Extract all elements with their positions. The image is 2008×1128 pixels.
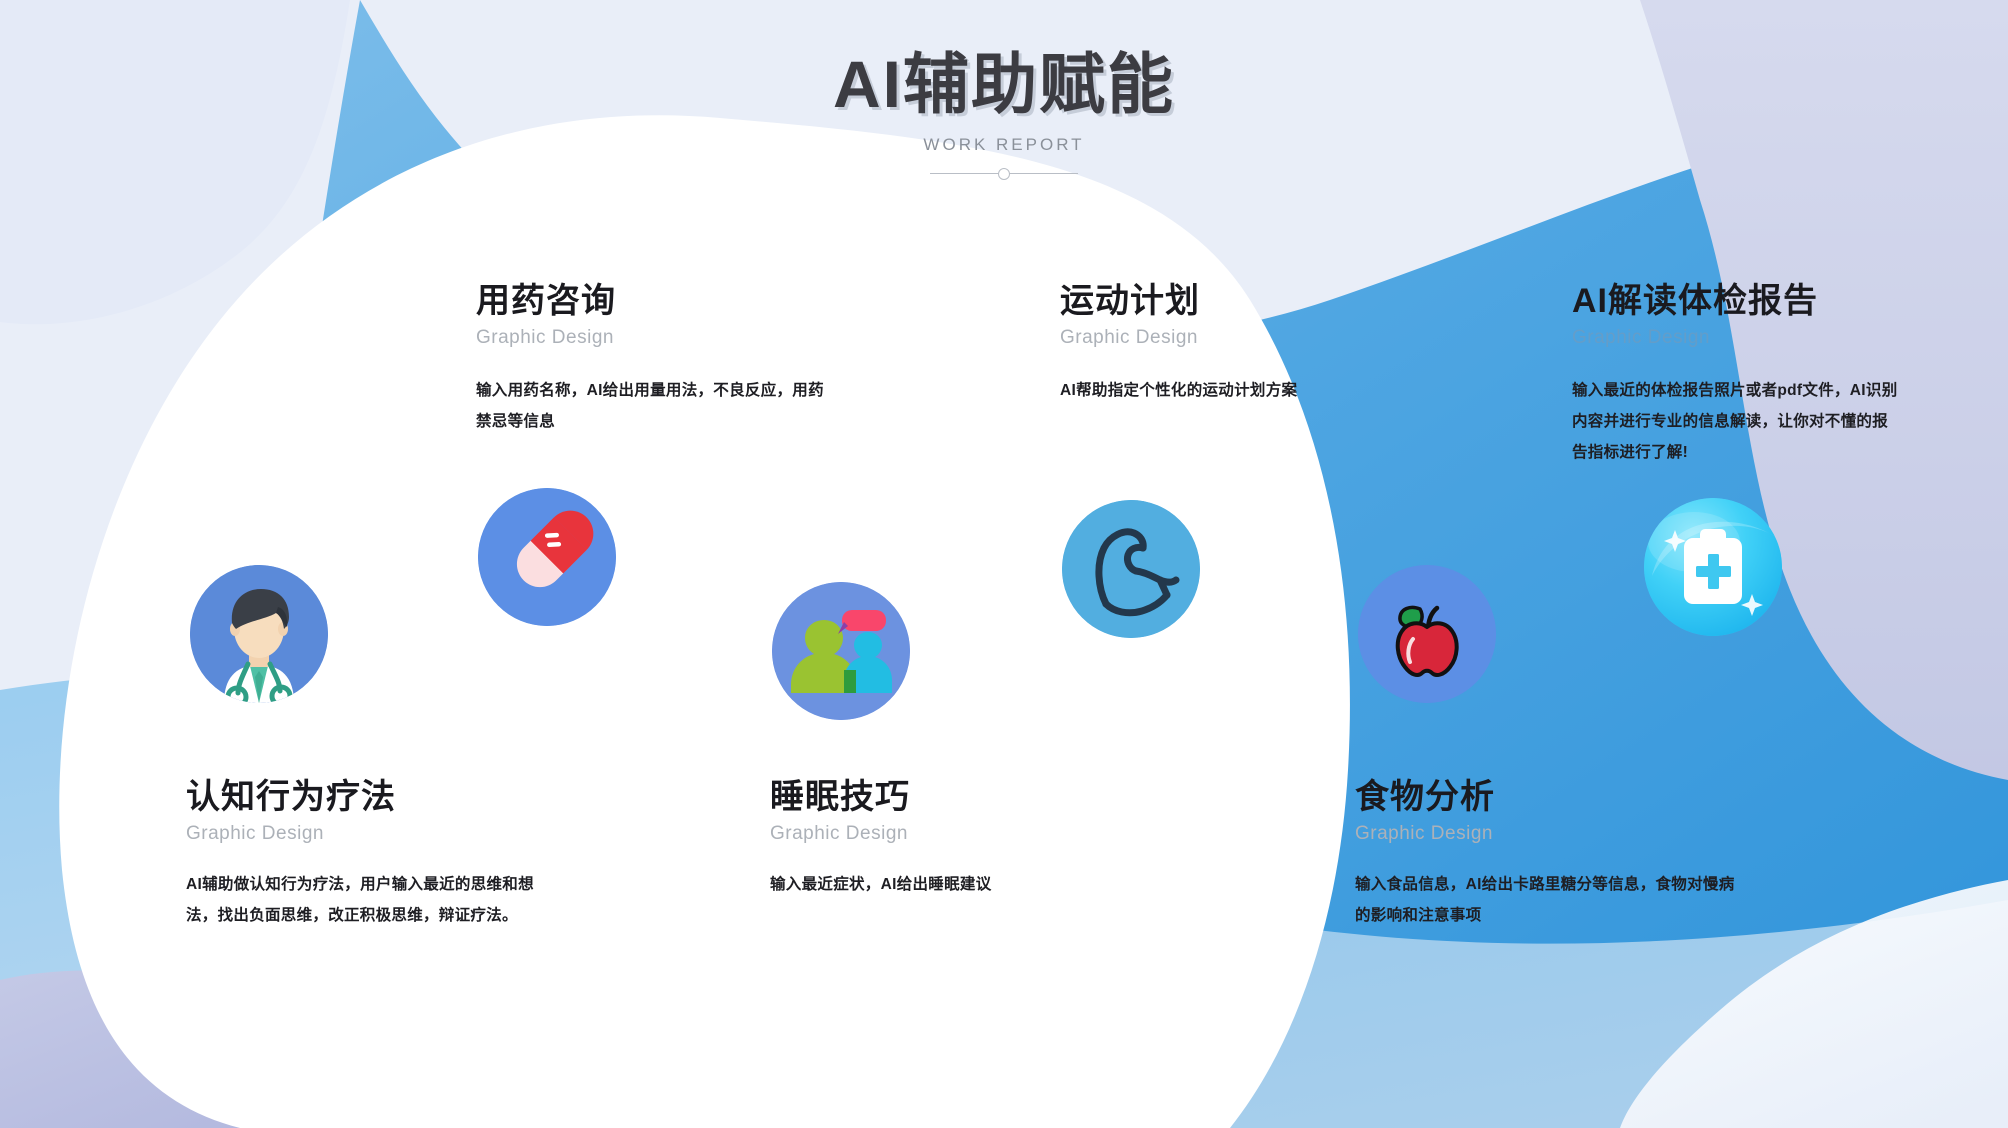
divider-dot-icon	[998, 168, 1010, 180]
card-title: 用药咨询	[476, 282, 836, 321]
card-subtitle: Graphic Design	[186, 823, 546, 845]
card-title: 认知行为疗法	[186, 778, 546, 817]
pill-capsule-icon	[478, 488, 616, 626]
card-ai-health-report: AI解读体检报告 Graphic Design 输入最近的体检报告照片或者pdf…	[1572, 282, 1902, 468]
card-description: 输入最近症状，AI给出睡眠建议	[770, 869, 1110, 900]
card-subtitle: Graphic Design	[1060, 327, 1390, 349]
page-title: AI辅助赋能	[0, 48, 2008, 121]
icon-medication-consultation[interactable]	[478, 488, 616, 626]
card-title: 食物分析	[1355, 778, 1735, 817]
card-title: 运动计划	[1060, 282, 1390, 321]
card-sleep-tips: 睡眠技巧 Graphic Design 输入最近症状，AI给出睡眠建议	[770, 778, 1110, 900]
icon-exercise-plan[interactable]	[1062, 500, 1200, 638]
card-description: AI帮助指定个性化的运动计划方案	[1060, 375, 1390, 406]
doctor-icon	[190, 565, 328, 703]
card-food-analysis: 食物分析 Graphic Design 输入食品信息，AI给出卡路里糖分等信息，…	[1355, 778, 1735, 931]
icon-cognitive-behavioral-therapy[interactable]	[190, 565, 328, 703]
medical-clipboard-icon	[1644, 498, 1782, 636]
apple-icon	[1358, 565, 1496, 703]
card-description: 输入最近的体检报告照片或者pdf文件，AI识别内容并进行专业的信息解读，让你对不…	[1572, 375, 1902, 468]
people-chat-icon	[772, 582, 910, 720]
card-description: 输入用药名称，AI给出用量用法，不良反应，用药禁忌等信息	[476, 375, 836, 437]
flexed-bicep-icon	[1062, 500, 1200, 638]
slide-header: AI辅助赋能 WORK REPORT	[0, 48, 2008, 181]
card-description: 输入食品信息，AI给出卡路里糖分等信息，食物对慢病的影响和注意事项	[1355, 869, 1735, 931]
icon-food-analysis[interactable]	[1358, 565, 1496, 703]
page-subtitle: WORK REPORT	[0, 135, 2008, 155]
card-exercise-plan: 运动计划 Graphic Design AI帮助指定个性化的运动计划方案	[1060, 282, 1390, 406]
icon-ai-health-report[interactable]	[1644, 498, 1782, 636]
card-title: 睡眠技巧	[770, 778, 1110, 817]
card-subtitle: Graphic Design	[1572, 327, 1902, 349]
title-divider	[930, 167, 1078, 181]
card-description: AI辅助做认知行为疗法，用户输入最近的思维和想法，找出负面思维，改正积极思维，辩…	[186, 869, 546, 931]
card-subtitle: Graphic Design	[1355, 823, 1735, 845]
card-medication-consultation: 用药咨询 Graphic Design 输入用药名称，AI给出用量用法，不良反应…	[476, 282, 836, 437]
card-subtitle: Graphic Design	[770, 823, 1110, 845]
card-subtitle: Graphic Design	[476, 327, 836, 349]
card-cognitive-behavioral-therapy: 认知行为疗法 Graphic Design AI辅助做认知行为疗法，用户输入最近…	[186, 778, 546, 931]
card-title: AI解读体检报告	[1572, 282, 1902, 321]
icon-sleep-tips[interactable]	[772, 582, 910, 720]
